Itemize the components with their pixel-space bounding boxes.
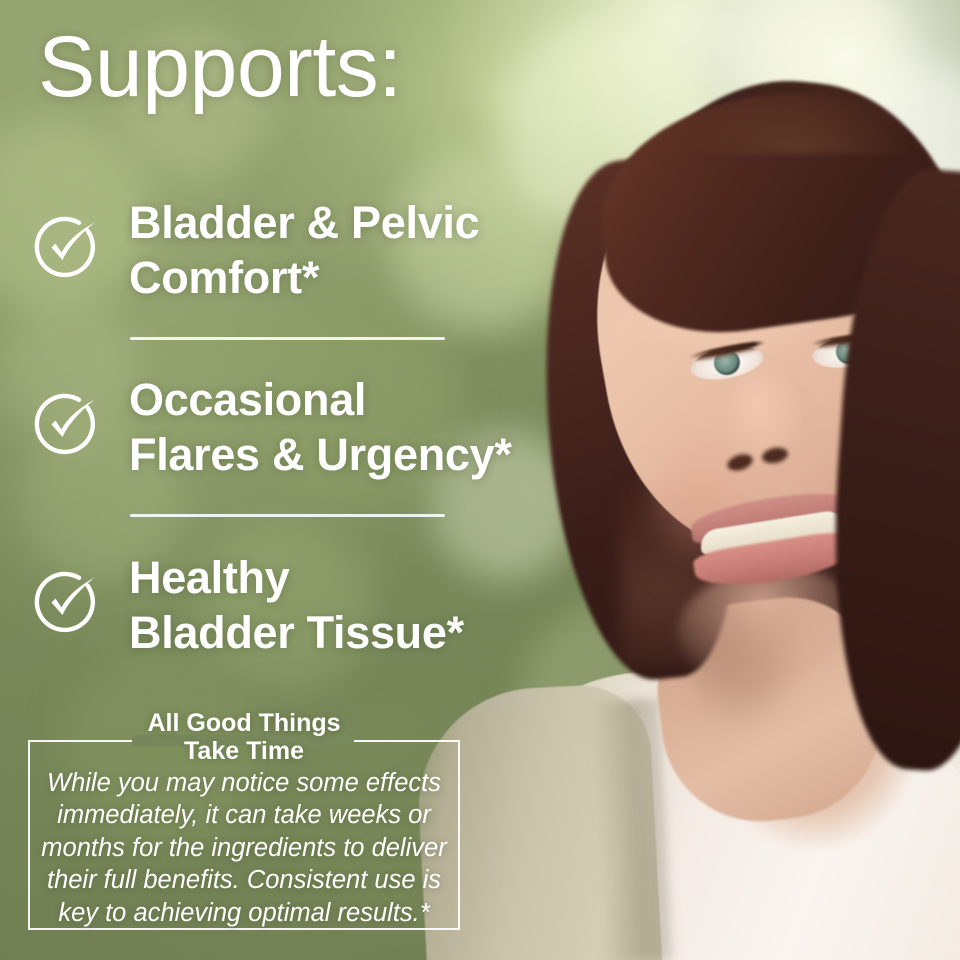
benefit-line-2: Comfort* bbox=[129, 251, 479, 306]
benefit-line-1: Healthy bbox=[129, 551, 464, 606]
check-circle-icon bbox=[30, 210, 102, 282]
callout-title: All Good Things Take Time bbox=[28, 709, 460, 765]
benefit-line-1: Occasional bbox=[129, 373, 512, 428]
benefit-item: Bladder & Pelvic Comfort* bbox=[30, 196, 630, 306]
benefit-line-2: Bladder Tissue* bbox=[129, 606, 464, 661]
benefit-divider bbox=[130, 337, 445, 340]
benefit-item: Occasional Flares & Urgency* bbox=[30, 373, 630, 483]
callout-box: All Good Things Take Time While you may … bbox=[28, 740, 460, 930]
callout-title-line-1: All Good Things bbox=[28, 709, 460, 737]
benefit-item: Healthy Bladder Tissue* bbox=[30, 551, 630, 661]
check-circle-icon bbox=[30, 387, 102, 459]
benefit-label: Occasional Flares & Urgency* bbox=[129, 373, 512, 483]
benefit-label: Healthy Bladder Tissue* bbox=[129, 551, 464, 661]
callout-title-line-2: Take Time bbox=[28, 737, 460, 765]
page-title: Supports: bbox=[38, 24, 402, 110]
check-circle-icon bbox=[30, 565, 102, 637]
callout-body-text: While you may notice some effects immedi… bbox=[34, 767, 454, 929]
benefit-line-1: Bladder & Pelvic bbox=[129, 196, 479, 251]
supports-benefits-poster: Supports: Bladder & Pelvic Comfort* bbox=[0, 0, 960, 960]
poster-content: Supports: Bladder & Pelvic Comfort* bbox=[0, 0, 960, 960]
benefit-line-2: Flares & Urgency* bbox=[129, 428, 512, 483]
benefit-divider bbox=[130, 514, 445, 517]
benefit-label: Bladder & Pelvic Comfort* bbox=[129, 196, 479, 306]
